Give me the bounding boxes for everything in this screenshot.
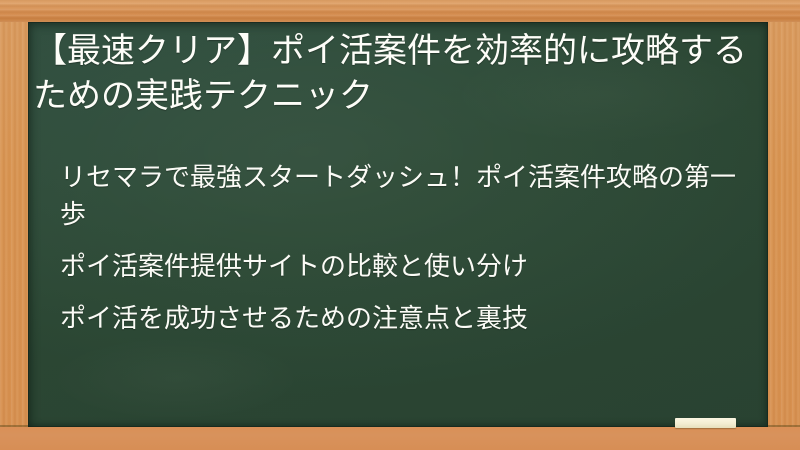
blackboard-surface: 【最速クリア】ポイ活案件を効率的に攻略するための実践テクニック リセマラで最強ス…: [28, 22, 768, 427]
list-item: ポイ活を成功させるための注意点と裏技: [60, 300, 750, 337]
frame-top-rail: [0, 0, 800, 22]
slide-title: 【最速クリア】ポイ活案件を効率的に攻略するための実践テクニック: [33, 29, 759, 119]
list-item: リセマラで最強スタートダッシュ！ポイ活案件攻略の第一歩: [60, 159, 750, 233]
blackboard-content: 【最速クリア】ポイ活案件を効率的に攻略するための実践テクニック リセマラで最強ス…: [28, 22, 768, 427]
outline-list: リセマラで最強スタートダッシュ！ポイ活案件攻略の第一歩 ポイ活案件提供サイトの比…: [60, 159, 750, 337]
frame-bottom-ledge: [0, 427, 800, 450]
blackboard-slide: 【最速クリア】ポイ活案件を効率的に攻略するための実践テクニック リセマラで最強ス…: [0, 0, 800, 450]
list-item: ポイ活案件提供サイトの比較と使い分け: [60, 248, 750, 285]
